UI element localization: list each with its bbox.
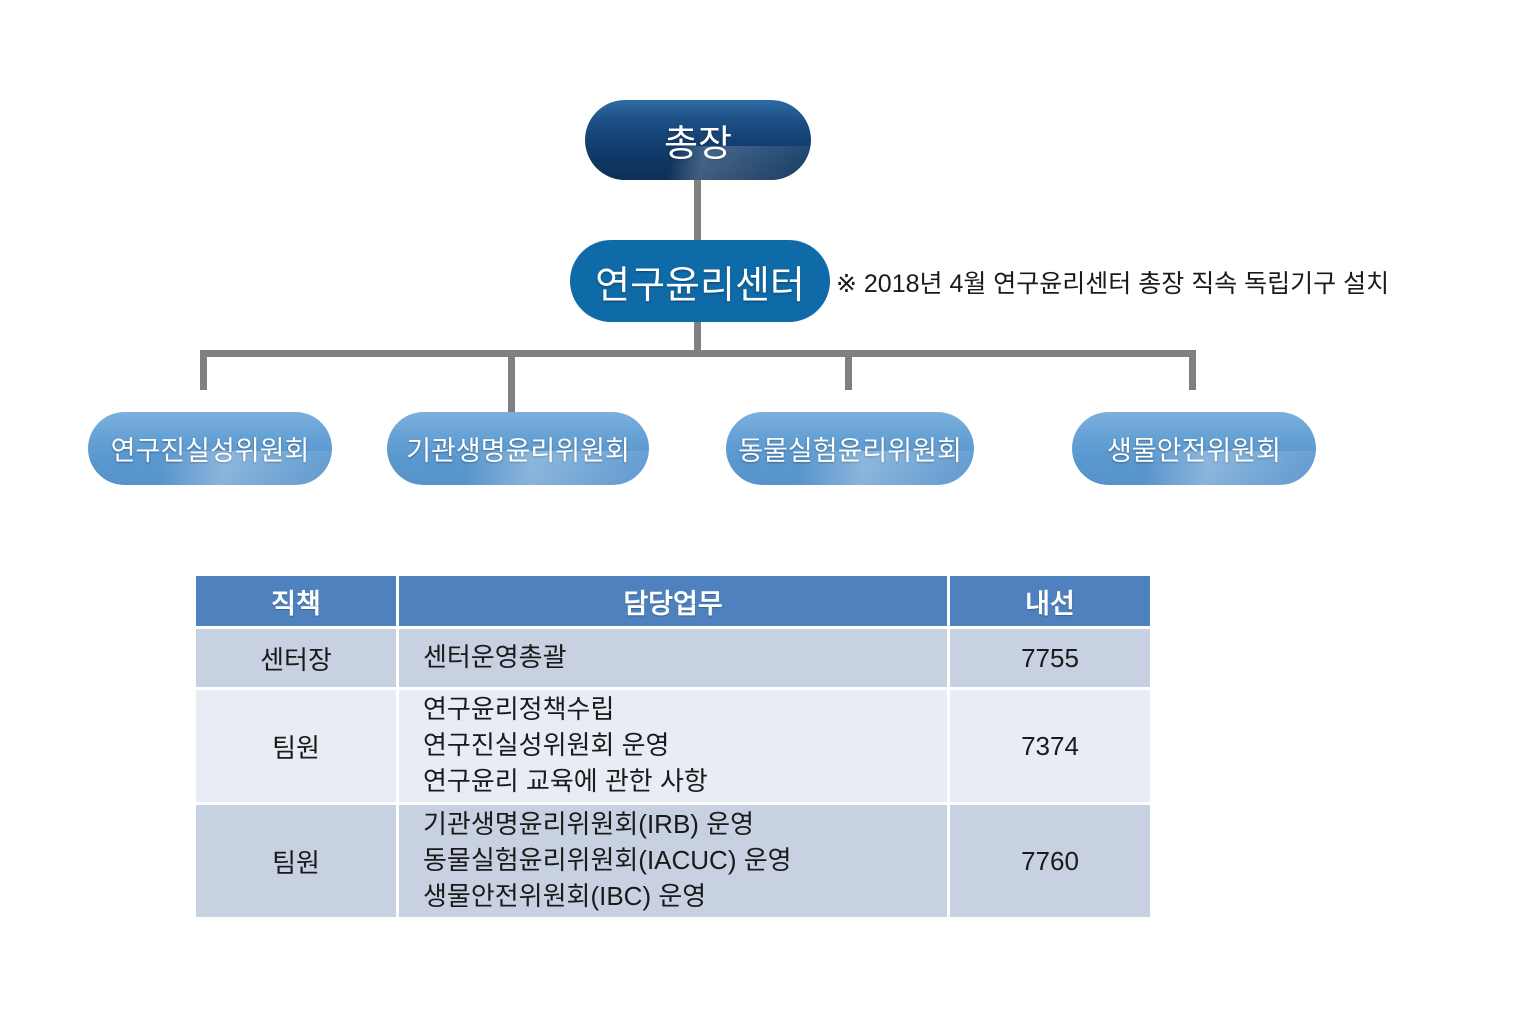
node-committee-iacuc: 동물실험윤리위원회	[726, 412, 974, 485]
connector-drop-committee-3	[845, 350, 852, 390]
connector-horizontal-bus	[200, 350, 1196, 357]
duty-line: 생물안전위원회(IBC) 운영	[423, 879, 946, 915]
table-header-row: 직책 담당업무 내선	[196, 576, 1150, 626]
cell-duty: 연구윤리정책수립 연구진실성위원회 운영 연구윤리 교육에 관한 사항	[399, 690, 947, 802]
duty-line: 연구윤리 교육에 관한 사항	[423, 764, 946, 800]
duty-line: 연구윤리정책수립	[423, 692, 946, 728]
annotation-note: ※ 2018년 4월 연구윤리센터 총장 직속 독립기구 설치	[836, 264, 1389, 300]
node-committee-ibc: 생물안전위원회	[1072, 412, 1316, 485]
node-committee-label: 기관생명윤리위원회	[406, 429, 630, 468]
connector-drop-committee-4	[1189, 350, 1196, 390]
cell-extension: 7755	[950, 629, 1150, 687]
cell-role: 팀원	[196, 805, 396, 917]
node-committee-label: 동물실험윤리위원회	[738, 429, 962, 468]
connector-drop-committee-1	[200, 350, 207, 390]
duty-line: 동물실험윤리위원회(IACUC) 운영	[423, 843, 946, 879]
node-committee-research-integrity: 연구진실성위원회	[88, 412, 332, 485]
node-president: 총장	[585, 100, 811, 180]
column-header-role: 직책	[196, 576, 396, 626]
node-committee-irb: 기관생명윤리위원회	[387, 412, 649, 485]
cell-extension: 7760	[950, 805, 1150, 917]
node-research-ethics-center-label: 연구윤리센터	[595, 254, 805, 309]
node-committee-label: 생물안전위원회	[1107, 429, 1281, 468]
column-header-duty: 담당업무	[399, 576, 947, 626]
table-row: 팀원 연구윤리정책수립 연구진실성위원회 운영 연구윤리 교육에 관한 사항 7…	[196, 690, 1150, 802]
connector-drop-committee-2	[508, 350, 515, 415]
cell-extension: 7374	[950, 690, 1150, 802]
staff-contact-table: 직책 담당업무 내선 센터장 센터운영총괄 7755 팀원 연구윤리정책수립 연…	[193, 573, 1153, 920]
node-president-label: 총장	[664, 113, 732, 167]
cell-role: 센터장	[196, 629, 396, 687]
duty-line: 기관생명윤리위원회(IRB) 운영	[423, 807, 946, 843]
cell-duty: 기관생명윤리위원회(IRB) 운영 동물실험윤리위원회(IACUC) 운영 생물…	[399, 805, 947, 917]
node-research-ethics-center: 연구윤리센터	[570, 240, 830, 322]
connector-president-to-center	[694, 178, 701, 242]
cell-duty: 센터운영총괄	[399, 629, 947, 687]
duty-line: 센터운영총괄	[423, 640, 946, 676]
duty-line: 연구진실성위원회 운영	[423, 728, 946, 764]
table-row: 센터장 센터운영총괄 7755	[196, 629, 1150, 687]
column-header-extension: 내선	[950, 576, 1150, 626]
organization-chart-page: 총장 연구윤리센터 ※ 2018년 4월 연구윤리센터 총장 직속 독립기구 설…	[0, 0, 1528, 1036]
node-committee-label: 연구진실성위원회	[111, 429, 310, 468]
cell-role: 팀원	[196, 690, 396, 802]
table-row: 팀원 기관생명윤리위원회(IRB) 운영 동물실험윤리위원회(IACUC) 운영…	[196, 805, 1150, 917]
